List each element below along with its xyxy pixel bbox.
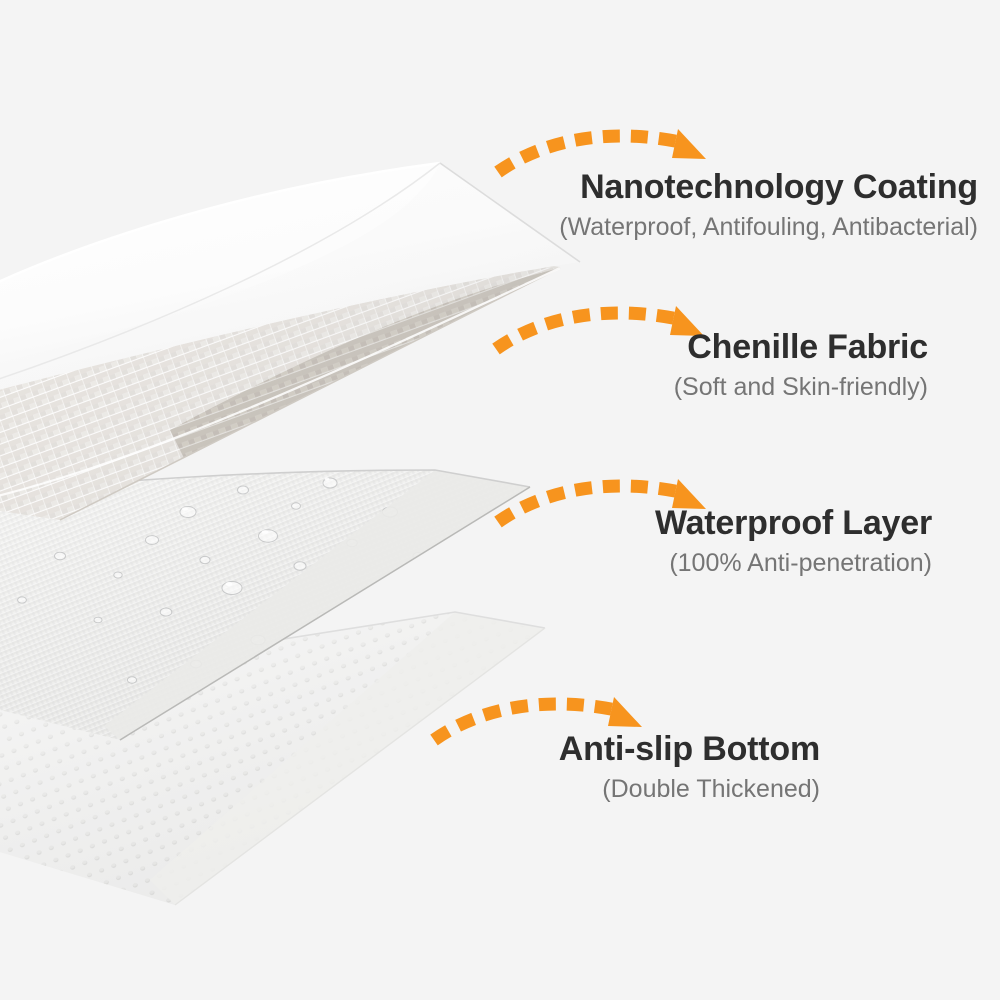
infographic-canvas: Nanotechnology Coating (Waterproof, Anti… <box>0 0 1000 1000</box>
label-subtitle: (100% Anti-penetration) <box>655 548 932 578</box>
label-subtitle: (Double Thickened) <box>559 774 820 804</box>
label-waterproof-layer: Waterproof Layer (100% Anti-penetration) <box>655 504 932 578</box>
label-subtitle: (Waterproof, Antifouling, Antibacterial) <box>559 212 978 242</box>
label-title: Anti-slip Bottom <box>559 730 820 768</box>
label-title: Chenille Fabric <box>674 328 928 366</box>
label-title: Nanotechnology Coating <box>559 168 978 206</box>
label-title: Waterproof Layer <box>655 504 932 542</box>
label-subtitle: (Soft and Skin-friendly) <box>674 372 928 402</box>
label-chenille-fabric: Chenille Fabric (Soft and Skin-friendly) <box>674 328 928 402</box>
label-nanotechnology-coating: Nanotechnology Coating (Waterproof, Anti… <box>559 168 978 242</box>
label-anti-slip-bottom: Anti-slip Bottom (Double Thickened) <box>559 730 820 804</box>
